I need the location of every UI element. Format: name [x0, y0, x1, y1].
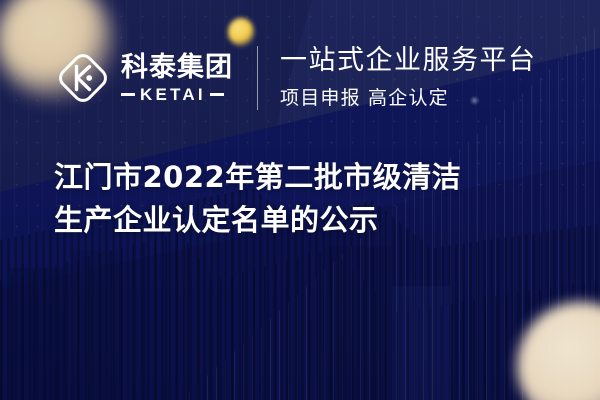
- tower-block-4: [392, 286, 450, 400]
- slogan-block: 一站式企业服务平台 项目申报 高企认定: [280, 46, 537, 109]
- banner-header: 科泰集团 KETAI 一站式企业服务平台 项目申报 高企认定: [0, 36, 600, 120]
- tower-block-2: [72, 250, 118, 400]
- dash-left-icon: [121, 93, 135, 96]
- tower-block-1: [10, 268, 66, 400]
- tower-block-3: [326, 246, 392, 400]
- brand-name-en: KETAI: [140, 86, 206, 103]
- brand-logo[interactable]: 科泰集团 KETAI: [56, 51, 233, 105]
- ketai-diamond-k-logo-icon: [56, 51, 110, 105]
- promotional-banner: 科泰集团 KETAI 一站式企业服务平台 项目申报 高企认定 江门市2022年第…: [0, 0, 600, 400]
- dash-right-icon: [210, 93, 224, 96]
- brand-wordmark: 科泰集团 KETAI: [121, 54, 233, 103]
- brand-name-en-row: KETAI: [121, 86, 233, 103]
- page-title: 江门市2022年第二批市级清洁生产企业认定名单的公示: [54, 156, 484, 242]
- brand-name-cn: 科泰集团: [121, 54, 233, 81]
- slogan-primary: 一站式企业服务平台: [280, 46, 537, 76]
- slogan-secondary: 项目申报 高企认定: [280, 83, 537, 110]
- vertical-divider: [257, 46, 258, 110]
